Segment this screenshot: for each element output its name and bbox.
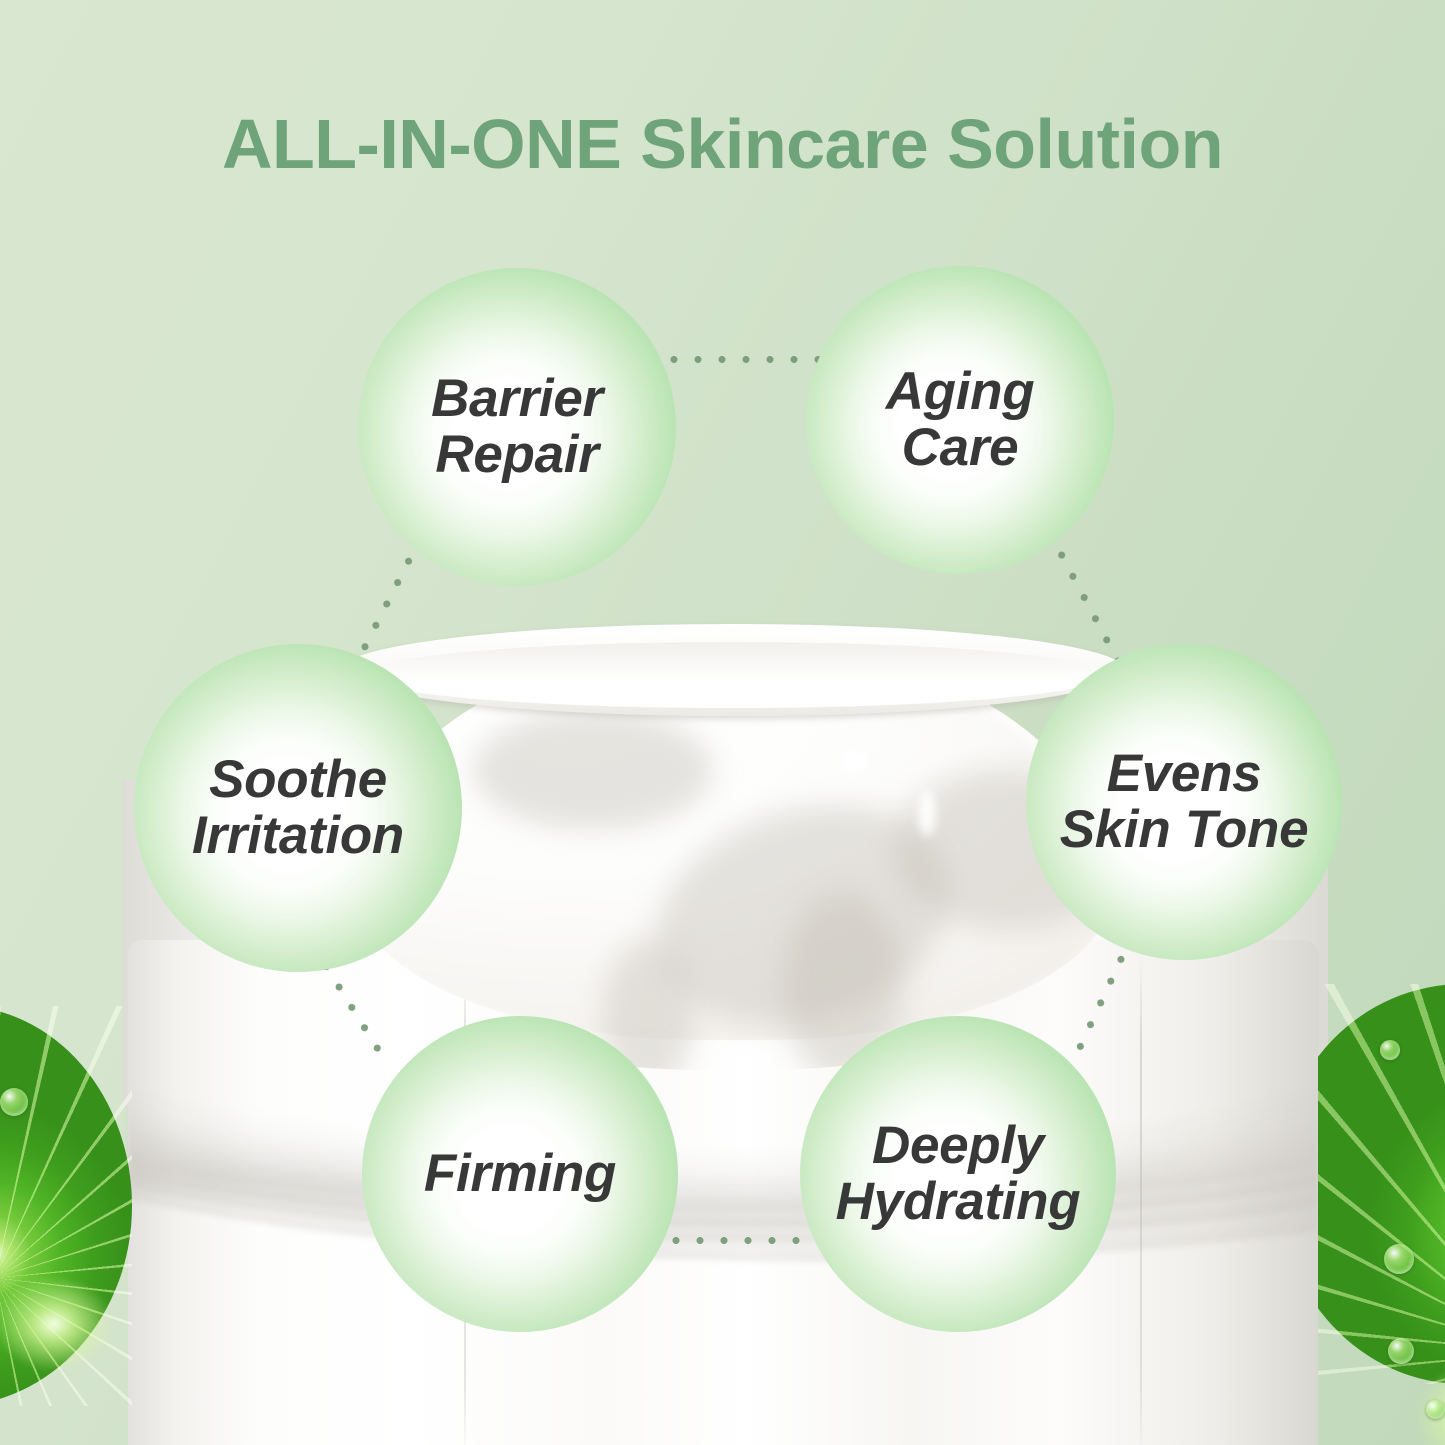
benefit-label: Firming <box>416 1146 624 1202</box>
jar-rim-inner <box>360 642 1106 708</box>
water-droplet <box>1380 1040 1400 1060</box>
cream-highlight <box>838 750 868 772</box>
water-droplet <box>0 1088 28 1116</box>
connector-firming-to-hydrating <box>664 1236 814 1245</box>
water-droplet <box>1426 1400 1445 1419</box>
cream-highlight <box>918 790 936 836</box>
benefit-label: Deeply Hydrating <box>828 1118 1089 1230</box>
jar-seam-right <box>1140 958 1142 1445</box>
infographic-canvas: ALL-IN-ONE Skincare Solution Barrier Rep… <box>0 0 1445 1445</box>
water-droplet <box>1388 1338 1414 1364</box>
benefit-bubble-aging-care[interactable]: Aging Care <box>806 266 1114 574</box>
benefit-bubble-barrier-repair[interactable]: Barrier Repair <box>358 268 676 586</box>
benefit-label: Barrier Repair <box>423 371 611 483</box>
benefit-bubble-firming[interactable]: Firming <box>362 1016 678 1332</box>
connector-barrier-to-aging <box>662 355 822 364</box>
benefit-bubble-deeply-hydrating[interactable]: Deeply Hydrating <box>800 1016 1116 1332</box>
water-droplet <box>1384 1244 1414 1274</box>
centella-leaf-right <box>1318 962 1445 1445</box>
benefit-label: Aging Care <box>878 364 1043 476</box>
benefit-label: Soothe Irritation <box>184 752 412 864</box>
cream-shadow <box>473 710 713 830</box>
centella-leaf-left <box>0 988 142 1445</box>
benefit-bubble-soothe-irritation[interactable]: Soothe Irritation <box>134 644 462 972</box>
benefit-bubble-evens-skin-tone[interactable]: Evens Skin Tone <box>1026 644 1342 960</box>
benefit-label: Evens Skin Tone <box>1052 746 1317 858</box>
page-title: ALL-IN-ONE Skincare Solution <box>0 104 1445 184</box>
